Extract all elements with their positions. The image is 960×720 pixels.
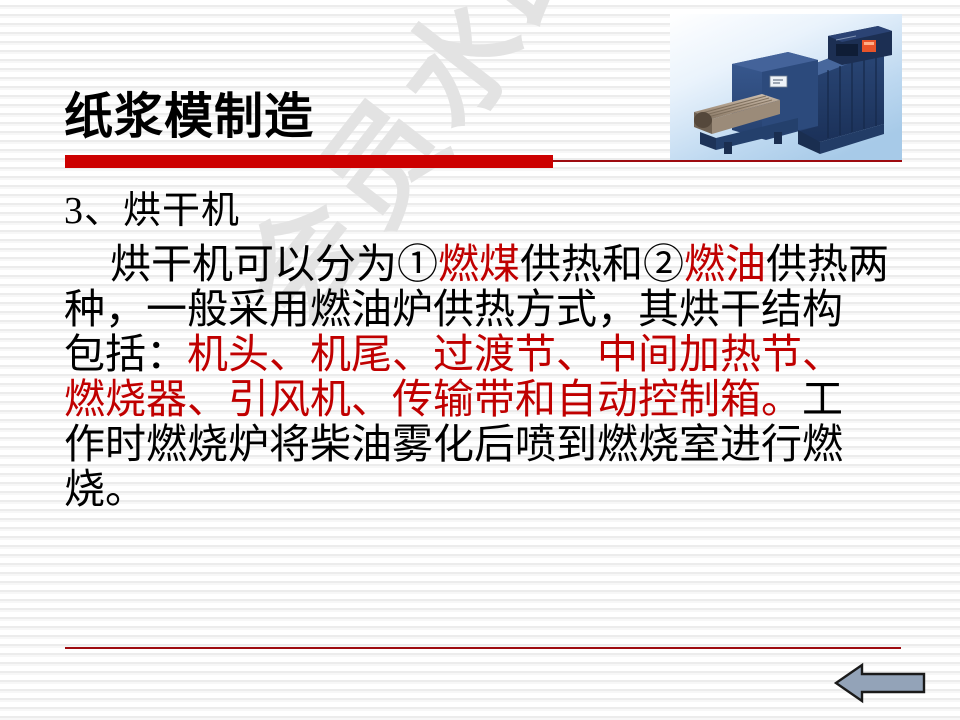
body-text-run: 供热两 bbox=[766, 241, 889, 287]
title-underline-rule bbox=[553, 160, 902, 162]
dryer-machine-photo bbox=[670, 14, 902, 161]
body-text-run: 包括： bbox=[64, 331, 187, 377]
body-text-run: 烘干机可以分为① bbox=[110, 241, 438, 287]
body-line: 烘干机可以分为①燃煤供热和②燃油供热两 bbox=[64, 242, 920, 287]
body-text-run: 作时燃烧炉将柴油雾化后喷到燃烧室进行燃 bbox=[64, 421, 843, 467]
page-title: 纸浆模制造 bbox=[64, 92, 314, 141]
body-paragraph: 烘干机可以分为①燃煤供热和②燃油供热两种，一般采用燃油炉供热方式，其烘干结构包括… bbox=[64, 242, 920, 512]
body-text-emphasis: 燃油 bbox=[684, 241, 766, 287]
content-body: 3、烘干机 烘干机可以分为①燃煤供热和②燃油供热两种，一般采用燃油炉供热方式，其… bbox=[64, 186, 920, 512]
body-text-emphasis: 机头、机尾、过渡节、中间加热节、 bbox=[187, 331, 843, 377]
body-line: 包括：机头、机尾、过渡节、中间加热节、 bbox=[64, 332, 920, 377]
section-heading: 3、烘干机 bbox=[64, 186, 920, 236]
footer-divider bbox=[65, 647, 901, 649]
arrow-left-icon[interactable] bbox=[832, 660, 928, 706]
body-line: 种，一般采用燃油炉供热方式，其烘干结构 bbox=[64, 287, 920, 332]
body-line: 烧。 bbox=[64, 467, 920, 512]
body-line: 燃烧器、引风机、传输带和自动控制箱。工 bbox=[64, 377, 920, 422]
body-line: 作时燃烧炉将柴油雾化后喷到燃烧室进行燃 bbox=[64, 422, 920, 467]
body-text-run: 工 bbox=[802, 376, 843, 422]
slide-canvas: 会员水印 bbox=[0, 0, 960, 720]
body-text-run: 种，一般采用燃油炉供热方式，其烘干结构 bbox=[64, 286, 843, 332]
body-text-emphasis: 燃烧器、引风机、传输带和自动控制箱。 bbox=[64, 376, 802, 422]
body-text-emphasis: 燃煤 bbox=[438, 241, 520, 287]
title-underline-bar bbox=[65, 155, 553, 168]
body-text-run: 供热和② bbox=[520, 241, 684, 287]
dryer-machine-illustration bbox=[670, 14, 902, 161]
body-text-run: 烧。 bbox=[64, 466, 146, 512]
back-arrow-button[interactable] bbox=[832, 660, 928, 706]
